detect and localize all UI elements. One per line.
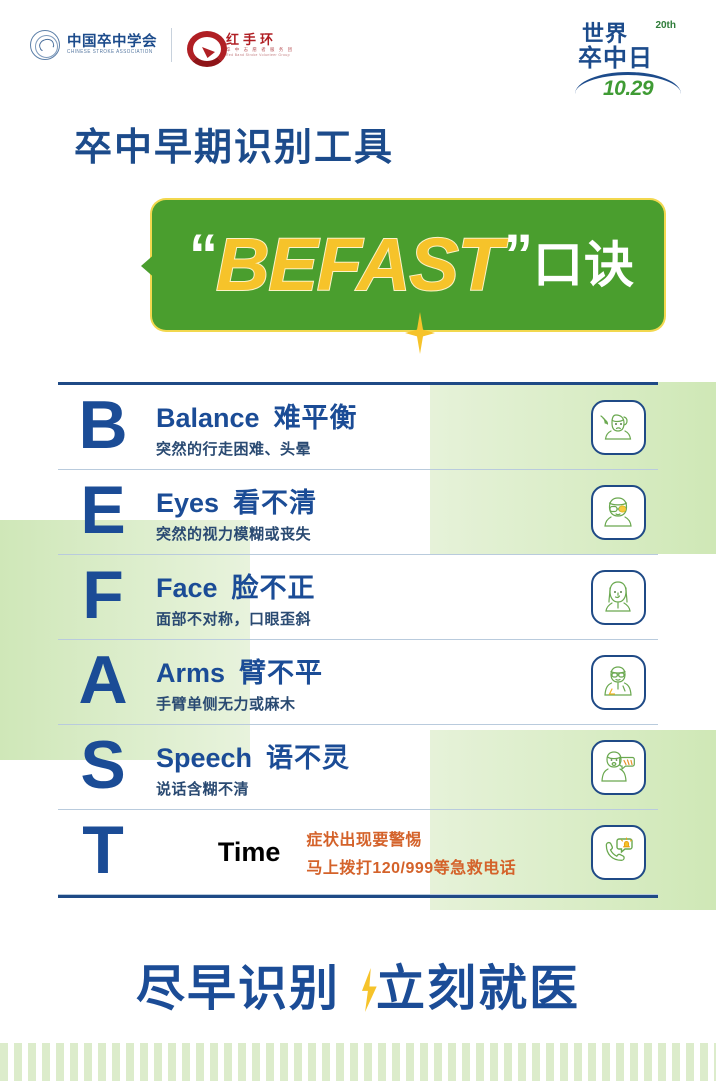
row-body-s: Speech 语不灵 说话含糊不清 <box>148 736 578 799</box>
wsd-anniversary: 20th <box>655 20 676 31</box>
row-chinese-e: 看不清 <box>233 481 317 520</box>
bottom-stripe-band <box>0 1043 716 1081</box>
red-hand-band-icon <box>186 30 220 60</box>
row-letter-b: B <box>58 391 148 463</box>
world-stroke-day-badge: 世界 20th 卒中日 10.29 <box>578 22 678 100</box>
table-row: A Arms 臂不平 手臂单侧无力或麻木 <box>58 640 658 725</box>
table-row: S Speech 语不灵 说话含糊不清 <box>58 725 658 810</box>
footer-slogan: 尽早识别立刻就医 <box>0 965 716 1014</box>
row-letter-a: A <box>58 646 148 718</box>
csa-name-cn: 中国卒中学会 <box>67 35 157 50</box>
row-icon-cell-b <box>578 400 658 455</box>
row-letter-s: S <box>58 731 148 803</box>
row-icon-cell-a <box>578 655 658 710</box>
befast-table: B Balance 难平衡 突然的行走困难、头晕 <box>58 382 658 898</box>
row-body-b: Balance 难平衡 突然的行走困难、头晕 <box>148 396 578 459</box>
row-english-e: Eyes <box>156 488 219 519</box>
row-head-e: Eyes 看不清 <box>156 481 578 520</box>
slogan-part-1: 尽早识别 <box>136 962 340 1016</box>
row-icon-cell-e <box>578 485 658 540</box>
banner-suffix: 口诀 <box>533 240 635 290</box>
quote-close: ” <box>504 227 529 285</box>
befast-acronym: BEFAST <box>216 228 502 302</box>
dizzy-person-icon <box>591 400 646 455</box>
row-chinese-s: 语不灵 <box>266 736 350 775</box>
drooping-face-icon <box>591 570 646 625</box>
page-header: 中国卒中学会 CHINESE STROKE ASSOCIATION 红手环 卒 … <box>0 0 716 118</box>
quote-open: “ <box>189 227 214 285</box>
wsd-line2: 卒中日 <box>578 46 653 71</box>
row-icon-cell-s <box>578 740 658 795</box>
befast-banner: “ BEFAST ” 口诀 <box>152 200 664 330</box>
csa-logo: 中国卒中学会 CHINESE STROKE ASSOCIATION <box>30 30 157 60</box>
row-subtitle-b: 突然的行走困难、头晕 <box>156 438 578 459</box>
red-band-sub-en: Red Band Stroke Volunteer Group <box>226 54 294 57</box>
row-chinese-f: 脸不正 <box>232 566 316 605</box>
banner-content: “ BEFAST ” 口诀 <box>152 200 664 330</box>
row-icon-cell-f <box>578 570 658 625</box>
row-body-f: Face 脸不正 面部不对称，口眼歪斜 <box>148 566 578 629</box>
row-head-b: Balance 难平衡 <box>156 396 578 435</box>
red-band-logo-text: 红手环 卒 中 志 愿 者 服 务 团 Red Band Stroke Volu… <box>226 33 294 58</box>
row-chinese-b: 难平衡 <box>274 396 358 435</box>
slogan-part-2: 立刻就医 <box>376 962 580 1016</box>
csa-name-en: CHINESE STROKE ASSOCIATION <box>67 50 157 55</box>
table-row: E Eyes 看不清 突然的视力模糊或丧失 <box>58 470 658 555</box>
row-subtitle-a: 手臂单侧无力或麻木 <box>156 693 578 714</box>
row-english-a: Arms <box>156 658 225 689</box>
row-letter-t: T <box>58 816 148 888</box>
page-title: 卒中早期识别工具 <box>74 128 394 170</box>
logo-divider <box>171 28 172 62</box>
red-band-sub-cn: 卒 中 志 愿 者 服 务 团 <box>226 48 294 52</box>
emergency-call-icon <box>591 825 646 880</box>
table-bottom-rule <box>58 895 658 898</box>
red-band-name-cn: 红手环 <box>226 33 294 46</box>
row-body-e: Eyes 看不清 突然的视力模糊或丧失 <box>148 481 578 544</box>
time-alert-line-2: 马上拨打120/999等急救电话 <box>306 854 516 878</box>
row-head-s: Speech 语不灵 <box>156 736 578 775</box>
partner-logos: 中国卒中学会 CHINESE STROKE ASSOCIATION 红手环 卒 … <box>30 28 294 62</box>
row-icon-cell-t <box>578 825 658 880</box>
row-english-s: Speech <box>156 743 252 774</box>
row-chinese-a: 臂不平 <box>239 651 323 690</box>
blurred-vision-icon <box>591 485 646 540</box>
csa-logo-text: 中国卒中学会 CHINESE STROKE ASSOCIATION <box>67 35 157 55</box>
csa-seal-icon <box>30 30 60 60</box>
row-english-b: Balance <box>156 403 260 434</box>
row-letter-f: F <box>58 561 148 633</box>
time-alert-line-1: 症状出现要警惕 <box>306 826 516 850</box>
row-head-a: Arms 臂不平 <box>156 651 578 690</box>
row-body-a: Arms 臂不平 手臂单侧无力或麻木 <box>148 651 578 714</box>
row-subtitle-e: 突然的视力模糊或丧失 <box>156 523 578 544</box>
row-english-t: Time <box>218 837 281 868</box>
row-english-f: Face <box>156 573 218 604</box>
slurred-speech-icon <box>591 740 646 795</box>
row-subtitle-f: 面部不对称，口眼歪斜 <box>156 608 578 629</box>
row-body-t: Time 症状出现要警惕 马上拨打120/999等急救电话 <box>148 826 578 878</box>
table-row: T Time 症状出现要警惕 马上拨打120/999等急救电话 <box>58 810 658 895</box>
wsd-date: 10.29 <box>578 77 678 101</box>
weak-arm-icon <box>591 655 646 710</box>
wsd-line1: 世界 <box>582 22 628 45</box>
time-alert: 症状出现要警惕 马上拨打120/999等急救电话 <box>306 826 516 878</box>
row-subtitle-s: 说话含糊不清 <box>156 778 578 799</box>
red-band-logo: 红手环 卒 中 志 愿 者 服 务 团 Red Band Stroke Volu… <box>186 30 294 60</box>
table-row: F Face 脸不正 面部不对称，口眼歪斜 <box>58 555 658 640</box>
row-letter-e: E <box>58 476 148 548</box>
table-row: B Balance 难平衡 突然的行走困难、头晕 <box>58 385 658 470</box>
row-head-f: Face 脸不正 <box>156 566 578 605</box>
